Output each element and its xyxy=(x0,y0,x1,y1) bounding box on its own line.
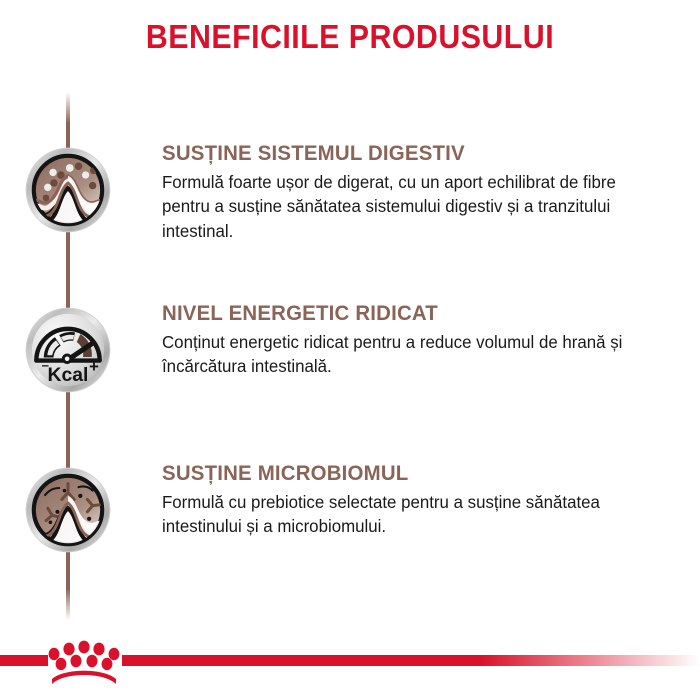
royal-canin-crown-logo xyxy=(46,640,122,688)
benefit-text-block: SUSȚINE SISTEMUL DIGESTIV Formulă foarte… xyxy=(162,140,678,243)
page-title: BENEFICIILE PRODUSULUI xyxy=(28,18,672,56)
benefit-heading: NIVEL ENERGETIC RIDICAT xyxy=(162,300,652,327)
gauge-plus-label: + xyxy=(89,357,99,376)
benefit-text-block: NIVEL ENERGETIC RIDICAT Conținut energet… xyxy=(162,300,678,379)
benefit-heading: SUSȚINE SISTEMUL DIGESTIV xyxy=(162,140,652,167)
digestive-system-icon xyxy=(24,146,112,234)
footer-bar-left xyxy=(0,655,48,666)
benefit-heading: SUSȚINE MICROBIOMUL xyxy=(162,460,652,487)
kcal-gauge-icon: – + Kcal xyxy=(24,306,112,394)
benefit-body: Formulă cu prebiotice selectate pentru a… xyxy=(162,490,663,539)
benefit-body: Formulă foarte ușor de digerat, cu un ap… xyxy=(162,170,663,243)
microbiome-icon xyxy=(24,466,112,554)
footer xyxy=(0,640,700,700)
benefit-body: Conținut energetic ridicat pentru a redu… xyxy=(162,330,663,379)
footer-bar-right xyxy=(122,655,700,666)
benefit-text-block: SUSȚINE MICROBIOMUL Formulă cu prebiotic… xyxy=(162,460,678,539)
gauge-kcal-label: Kcal xyxy=(48,364,89,386)
